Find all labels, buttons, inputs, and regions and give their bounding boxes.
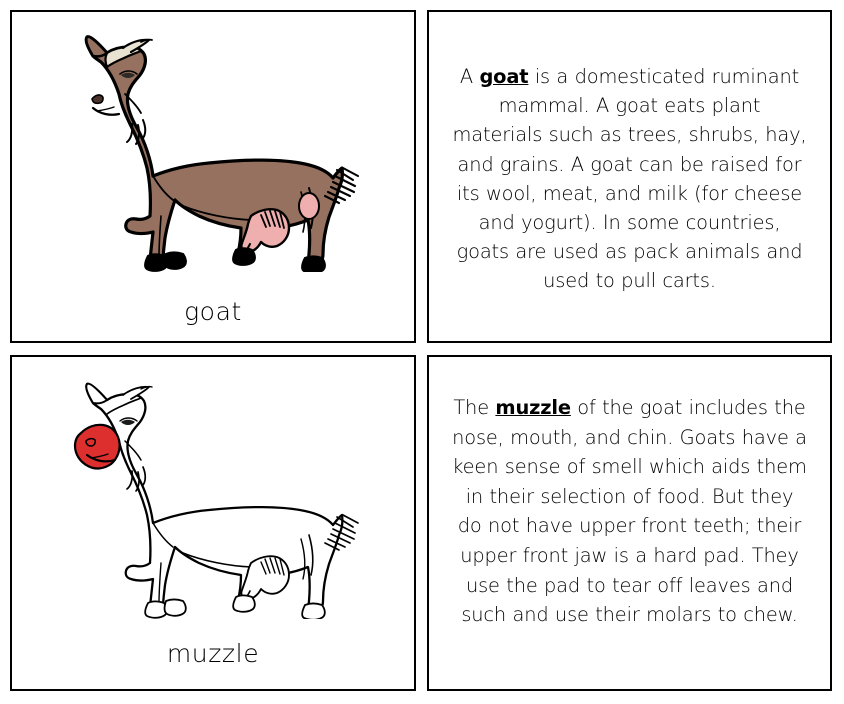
muzzle-line-6: not have upper front teeth; their bbox=[488, 514, 801, 537]
muzzle-picture-label: muzzle bbox=[12, 640, 414, 668]
muzzle-illustration-wrapper: muzzle bbox=[12, 357, 414, 689]
muzzle-line-7: upper front jaw is a hard pad. bbox=[460, 544, 745, 567]
keyword-muzzle: muzzle bbox=[495, 396, 570, 419]
nomenclature-card-sheet: goat A goat is a domesticated ruminant m… bbox=[0, 0, 844, 704]
muzzle-definition-card: The muzzle of the goat includes the nose… bbox=[427, 355, 832, 691]
keyword-goat: goat bbox=[479, 65, 528, 88]
definition-line-8: are used as pack animals and bbox=[515, 240, 802, 263]
muzzle-lead-text: The bbox=[453, 396, 495, 419]
definition-line-9: used to pull carts. bbox=[543, 269, 716, 292]
muzzle-line-10: molars to chew. bbox=[646, 603, 798, 626]
definition-rest-text: is a domesticated bbox=[528, 65, 705, 88]
goat-picture-label: goat bbox=[12, 298, 414, 326]
goat-colored-illustration bbox=[37, 20, 389, 272]
muzzle-picture-card: muzzle bbox=[10, 355, 416, 691]
goat-picture-card: goat bbox=[10, 10, 416, 343]
muzzle-definition-text: The muzzle of the goat includes the nose… bbox=[451, 393, 808, 630]
goat-illustration-wrapper: goat bbox=[12, 12, 414, 341]
definition-lead-text: A bbox=[460, 65, 480, 88]
goat-definition-card: A goat is a domesticated ruminant mammal… bbox=[427, 10, 832, 343]
goat-outline-illustration bbox=[37, 367, 389, 619]
muzzle-rest-text: of the goat includes bbox=[571, 396, 768, 419]
goat-definition-text: A goat is a domesticated ruminant mammal… bbox=[451, 62, 808, 296]
